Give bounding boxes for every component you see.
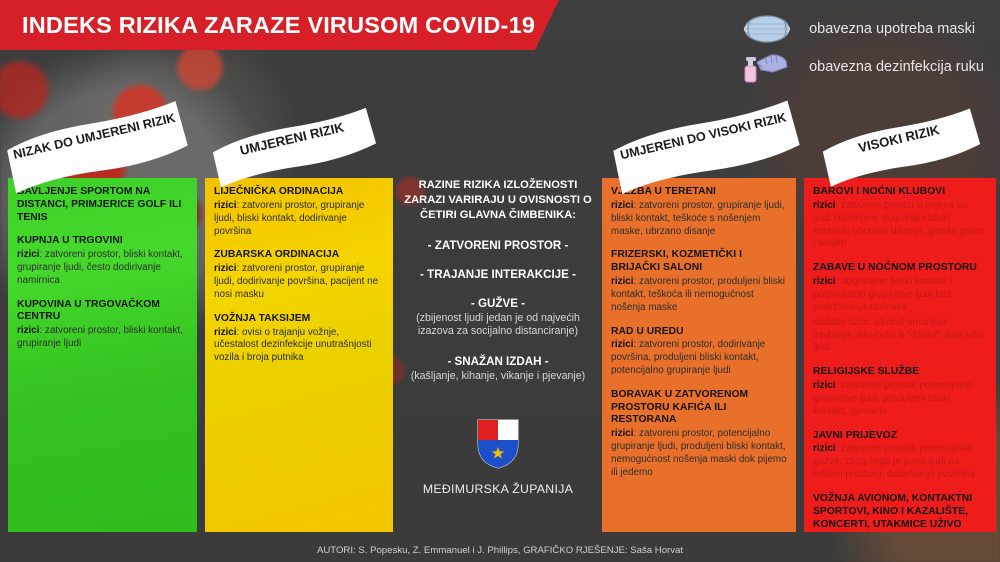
risk-item-title: BORAVAK U ZATVORENOM PROSTORU KAFIĆA ILI… <box>611 389 787 427</box>
risk-text: : zatvoreni prostor, grupiranje ljudi, d… <box>214 263 378 300</box>
risk-label: rizici <box>214 263 237 274</box>
risk-item-details: rizici: zatvoreni prostor, potencijalno … <box>813 380 987 419</box>
risk-item-details: rizici: zatvoreni prostor, produljeni bl… <box>611 276 787 315</box>
title-banner: INDEKS RIZIKA ZARAZE VIRUSOM COVID-19 <box>0 0 535 50</box>
risk-item: RAD U UREDU rizici: zatvoreni prostor, d… <box>611 326 787 378</box>
risk-label: rizici <box>611 428 634 439</box>
risk-item-title: FRIZERSKI, KOZMETIČKI I BRIJAČKI SALONI <box>611 249 787 275</box>
legend-item-sanitizer: obavezna dezinfekcija ruku <box>733 48 984 86</box>
legend-item-mask: obavezna upotreba maski <box>733 10 984 48</box>
risk-label: rizici <box>813 443 836 454</box>
risk-item-details: rizici: zatvoreni prostor, bliski kontak… <box>17 249 188 288</box>
coat-of-arms-icon <box>475 418 521 475</box>
risk-column-low-to-moderate: BAVLJENJE SPORTOM NA DISTANCI, PRIMJERIC… <box>8 178 197 532</box>
risk-text: : zatvoreni prostor, bliski kontakt, gru… <box>17 249 183 286</box>
risk-label: rizici <box>17 249 40 260</box>
face-mask-icon <box>733 13 801 45</box>
risk-item-details: rizici: zatvoreni prostor, grupiranje lj… <box>214 200 384 239</box>
risk-text: : zatvoreni prostor u kojima su ljudi st… <box>813 200 984 250</box>
risk-text: : ovisi o trajanju vožnje, učestalost de… <box>214 327 372 364</box>
infographic-page: INDEKS RIZIKA ZARAZE VIRUSOM COVID-19 ob… <box>0 0 1000 562</box>
legend: obavezna upotreba maski obavezna dezinfe… <box>733 10 984 86</box>
risk-label: rizici <box>611 339 634 350</box>
risk-text: : zatvoreni prostor, bliski kontakt, gru… <box>17 325 183 349</box>
risk-item-details: rizici: zatvoreni prostor u kojima su lj… <box>813 200 987 252</box>
legend-label-sanitizer: obavezna dezinfekcija ruku <box>809 59 984 75</box>
hand-sanitizer-icon <box>733 50 801 84</box>
risk-item-title: VOŽNJA AVIONOM, KONTAKTNI SPORTOVI, KINO… <box>813 493 987 531</box>
risk-item-details: rizici: zatvoreni prostor, grupiranje lj… <box>611 200 787 239</box>
risk-item: KUPNJA U TRGOVINI rizici: zatvoreni pros… <box>17 235 188 287</box>
risk-item-details: rizici: zatvoreni prostor, potencijalna … <box>813 443 987 482</box>
factor-name: - SNAŽAN IZDAH - <box>398 355 598 368</box>
risk-column-moderate-to-high: VJEŽBA U TERETANI rizici: zatvoreni pros… <box>602 178 796 532</box>
risk-label: rizici <box>813 276 836 287</box>
factor-name: - ZATVORENI PROSTOR - <box>398 239 598 252</box>
risk-label: rizici <box>611 200 634 211</box>
risk-item-title: KUPOVINA U TRGOVAČKOM CENTRU <box>17 299 188 325</box>
risk-item: BORAVAK U ZATVORENOM PROSTORU KAFIĆA ILI… <box>611 389 787 480</box>
risk-item-title: KUPNJA U TRGOVINI <box>17 235 188 248</box>
risk-item-extra: dodatni rizici: alkohol smanjuje inhibic… <box>813 317 987 356</box>
risk-item: ZABAVE U NOĆNOM PROSTORU rizici: dugotra… <box>813 262 987 355</box>
risk-text: : zatvoreni prostor, grupiranje ljudi, b… <box>611 200 784 237</box>
footer-credits: AUTORI: S. Popesku, Z. Emmanuel i J. Phi… <box>0 545 1000 556</box>
page-title: INDEKS RIZIKA ZARAZE VIRUSOM COVID-19 <box>22 12 535 39</box>
risk-item: LIJEČNIČKA ORDINACIJA rizici: zatvoreni … <box>214 186 384 238</box>
risk-item-details: rizici: zatvoreni prostor, bliski kontak… <box>17 325 188 351</box>
risk-column-moderate: LIJEČNIČKA ORDINACIJA rizici: zatvoreni … <box>205 178 393 532</box>
risk-label: rizici <box>17 325 40 336</box>
risk-item-details: rizici: dugotrajan bliski kontakt i pote… <box>813 276 987 315</box>
risk-item: BAROVI I NOĆNI KLUBOVI rizici: zatvoreni… <box>813 186 987 251</box>
risk-column-high: BAROVI I NOĆNI KLUBOVI rizici: zatvoreni… <box>804 178 996 532</box>
factor-name: - GUŽVE - <box>398 297 598 310</box>
legend-label-mask: obavezna upotreba maski <box>809 21 975 37</box>
risk-label: rizici <box>214 200 237 211</box>
risk-item-title: ZABAVE U NOĆNOM PROSTORU <box>813 262 987 275</box>
risk-item-details: rizici: zatvoreni prostor, grupiranje lj… <box>214 263 384 302</box>
risk-item-details: rizici: zatvoreni prostor, potencijalno … <box>611 428 787 480</box>
center-factors-block: RAZINE RIZIKA IZLOŽENOSTI ZARAZI VARIRAJ… <box>398 178 598 538</box>
risk-item-title: JAVNI PRIJEVOZ <box>813 430 987 443</box>
risk-text: : zatvoreni prostor, grupiranje ljudi, b… <box>214 200 364 237</box>
risk-text: : zatvoreni prostor, dodirivanje površin… <box>611 339 765 376</box>
risk-label: rizici <box>813 200 836 211</box>
county-name: MEĐIMURSKA ŽUPANIJA <box>423 482 573 496</box>
risk-item-details: rizici: ovisi o trajanju vožnje, učestal… <box>214 327 384 366</box>
risk-item: VOŽNJA TAKSIJEM rizici: ovisi o trajanju… <box>214 313 384 365</box>
risk-item: FRIZERSKI, KOZMETIČKI I BRIJAČKI SALONI … <box>611 249 787 314</box>
risk-item-title: RELIGIJSKE SLUŽBE <box>813 366 987 379</box>
risk-text: : zatvoreni prostor, potencijalno grupir… <box>611 428 787 478</box>
risk-text: : zatvoreni prostor, potencijalno grupir… <box>813 380 972 417</box>
risk-item: ZUBARSKA ORDINACIJA rizici: zatvoreni pr… <box>214 249 384 301</box>
factor-note: (kašljanje, kihanje, vikanje i pjevanje) <box>398 370 598 384</box>
risk-label: rizici <box>214 327 237 338</box>
risk-item-title: LIJEČNIČKA ORDINACIJA <box>214 186 384 199</box>
risk-item-details: rizici: zatvoreni prostor, dodirivanje p… <box>611 339 787 378</box>
risk-text: : zatvoreni prostor, potencijalna gužva,… <box>813 443 975 480</box>
factor-name: - TRAJANJE INTERAKCIJE - <box>398 268 598 281</box>
center-heading: RAZINE RIZIKA IZLOŽENOSTI ZARAZI VARIRAJ… <box>398 178 598 223</box>
risk-item-title: VOŽNJA TAKSIJEM <box>214 313 384 326</box>
risk-item-title: ZUBARSKA ORDINACIJA <box>214 249 384 262</box>
risk-text: : zatvoreni prostor, produljeni bliski k… <box>611 276 785 313</box>
risk-item-title: RAD U UREDU <box>611 326 787 339</box>
risk-label: rizici <box>813 380 836 391</box>
county-crest-block: MEĐIMURSKA ŽUPANIJA <box>398 418 598 496</box>
risk-label: rizici <box>611 276 634 287</box>
risk-item: KUPOVINA U TRGOVAČKOM CENTRU rizici: zat… <box>17 299 188 351</box>
factor-note: (zbijenost ljudi jedan je od najvećih iz… <box>398 312 598 340</box>
risk-item: VOŽNJA AVIONOM, KONTAKTNI SPORTOVI, KINO… <box>813 493 987 531</box>
risk-item: RELIGIJSKE SLUŽBE rizici: zatvoreni pros… <box>813 366 987 418</box>
risk-item: JAVNI PRIJEVOZ rizici: zatvoreni prostor… <box>813 430 987 482</box>
